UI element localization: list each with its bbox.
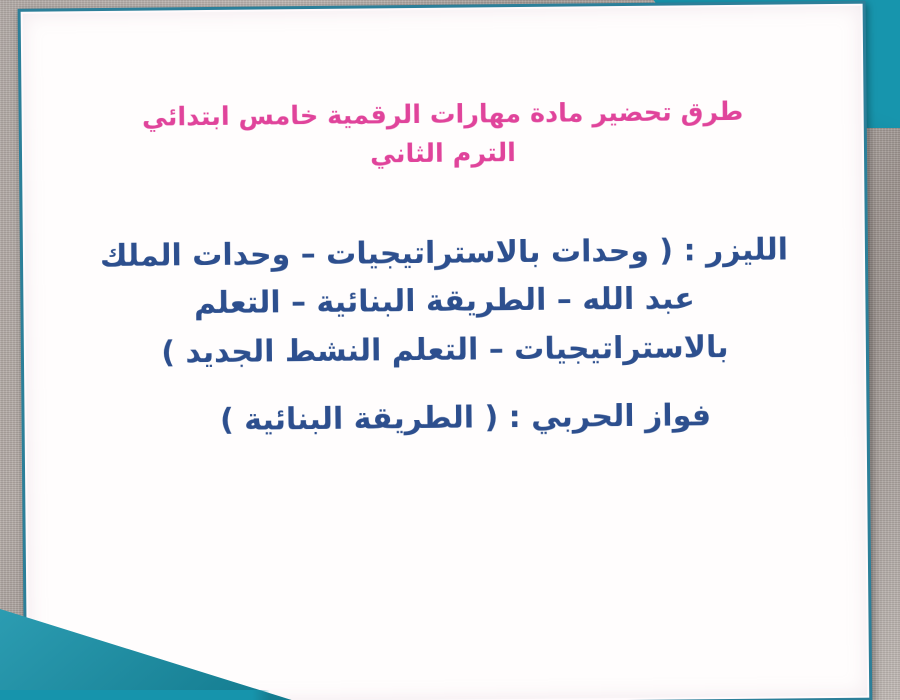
slide-title-line-2: الترم الثاني — [93, 131, 793, 176]
body-paragraph-fawaz: فواز الحربي : ( الطريقة البنائية ) — [100, 392, 790, 447]
teal-bottom-strip — [0, 690, 900, 700]
slide-card-content: طرق تحضير مادة مهارات الرقمية خامس ابتدا… — [21, 4, 870, 700]
body-paragraph-laser: الليزر : ( وحدات بالاستراتيجيات – وحدات … — [99, 226, 790, 378]
slide-card: طرق تحضير مادة مهارات الرقمية خامس ابتدا… — [18, 1, 873, 700]
slide-body: الليزر : ( وحدات بالاستراتيجيات – وحدات … — [99, 226, 791, 447]
slide-card-wrapper: طرق تحضير مادة مهارات الرقمية خامس ابتدا… — [18, 1, 873, 700]
slide-title-line-1: طرق تحضير مادة مهارات الرقمية خامس ابتدا… — [142, 97, 744, 133]
slide-stage: طرق تحضير مادة مهارات الرقمية خامس ابتدا… — [0, 0, 900, 700]
slide-title: طرق تحضير مادة مهارات الرقمية خامس ابتدا… — [92, 92, 793, 176]
